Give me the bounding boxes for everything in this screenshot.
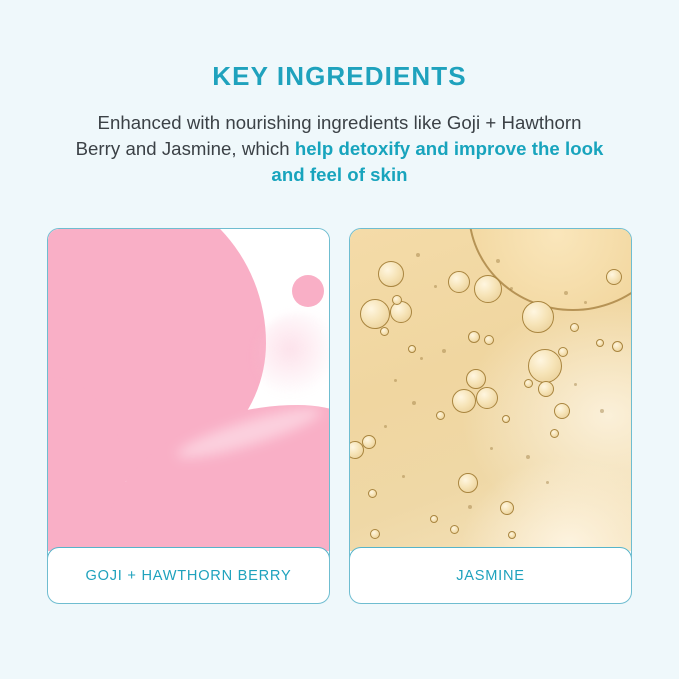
oil-bubble bbox=[606, 269, 622, 285]
oil-bubble bbox=[522, 301, 554, 333]
ingredient-card-goji-hawthorn-berry[interactable]: GOJI + HAWTHORN BERRY bbox=[47, 228, 330, 604]
subtitle-highlight-text: help detoxify and improve the look and f… bbox=[271, 138, 603, 185]
oil-bubble bbox=[484, 335, 494, 345]
card-caption-jasmine: JASMINE bbox=[349, 547, 632, 604]
oil-bubble bbox=[508, 531, 516, 539]
oil-bubble bbox=[360, 299, 390, 329]
ingredient-card-jasmine[interactable]: JASMINE bbox=[349, 228, 632, 604]
oil-bubble bbox=[466, 369, 486, 389]
oil-bubble bbox=[524, 379, 533, 388]
oil-bubble bbox=[436, 411, 445, 420]
oil-bubble bbox=[550, 429, 559, 438]
oil-bubble bbox=[570, 323, 579, 332]
oil-bubble bbox=[458, 473, 478, 493]
oil-speck bbox=[584, 301, 587, 304]
key-ingredients-panel: KEY INGREDIENTS Enhanced with nourishing… bbox=[0, 0, 679, 679]
oil-speck bbox=[564, 291, 568, 295]
oil-bubble bbox=[528, 349, 562, 383]
card-caption-goji: GOJI + HAWTHORN BERRY bbox=[47, 547, 330, 604]
card-caption-label: GOJI + HAWTHORN BERRY bbox=[86, 568, 292, 584]
oil-speck bbox=[412, 401, 416, 405]
oil-speck bbox=[490, 447, 493, 450]
oil-bubble bbox=[474, 275, 502, 303]
pink-droplet-small-top-right bbox=[292, 275, 324, 307]
jasmine-image bbox=[350, 229, 631, 551]
oil-bubble bbox=[612, 341, 623, 352]
oil-speck bbox=[442, 349, 446, 353]
oil-bubble bbox=[390, 301, 412, 323]
ingredient-cards-row: GOJI + HAWTHORN BERRY bbox=[47, 228, 632, 604]
oil-bubble bbox=[476, 387, 498, 409]
oil-bubble bbox=[430, 515, 438, 523]
oil-bubble bbox=[378, 261, 404, 287]
oil-speck bbox=[434, 285, 437, 288]
oil-speck bbox=[384, 425, 387, 428]
oil-bubble bbox=[450, 525, 459, 534]
page-title: KEY INGREDIENTS bbox=[0, 62, 679, 91]
oil-speck bbox=[496, 259, 500, 263]
oil-speck bbox=[510, 287, 513, 290]
oil-bubble bbox=[370, 529, 380, 539]
oil-speck bbox=[420, 357, 423, 360]
oil-bubble bbox=[452, 389, 476, 413]
pink-highlight-wisp bbox=[254, 313, 329, 403]
oil-speck bbox=[402, 475, 405, 478]
oil-speck bbox=[416, 253, 420, 257]
oil-speck bbox=[546, 481, 549, 484]
oil-bubble bbox=[468, 331, 480, 343]
oil-speck bbox=[600, 409, 604, 413]
oil-bubble bbox=[368, 489, 377, 498]
oil-bubble bbox=[362, 435, 376, 449]
oil-speck bbox=[468, 505, 472, 509]
oil-bubble bbox=[408, 345, 416, 353]
oil-speck bbox=[574, 383, 577, 386]
oil-bubble bbox=[538, 381, 554, 397]
oil-bubble bbox=[554, 403, 570, 419]
card-caption-label: JASMINE bbox=[456, 568, 525, 584]
oil-bubble bbox=[448, 271, 470, 293]
goji-hawthorn-berry-image bbox=[48, 229, 329, 551]
oil-bubble bbox=[502, 415, 510, 423]
oil-speck bbox=[526, 455, 530, 459]
header: KEY INGREDIENTS Enhanced with nourishing… bbox=[0, 0, 679, 189]
oil-bubble bbox=[500, 501, 514, 515]
oil-speck bbox=[394, 379, 397, 382]
subtitle-text: Enhanced with nourishing ingredients lik… bbox=[75, 110, 605, 189]
oil-bubble bbox=[392, 295, 402, 305]
oil-bubble bbox=[558, 347, 568, 357]
oil-bubble bbox=[380, 327, 389, 336]
oil-bubble bbox=[596, 339, 604, 347]
